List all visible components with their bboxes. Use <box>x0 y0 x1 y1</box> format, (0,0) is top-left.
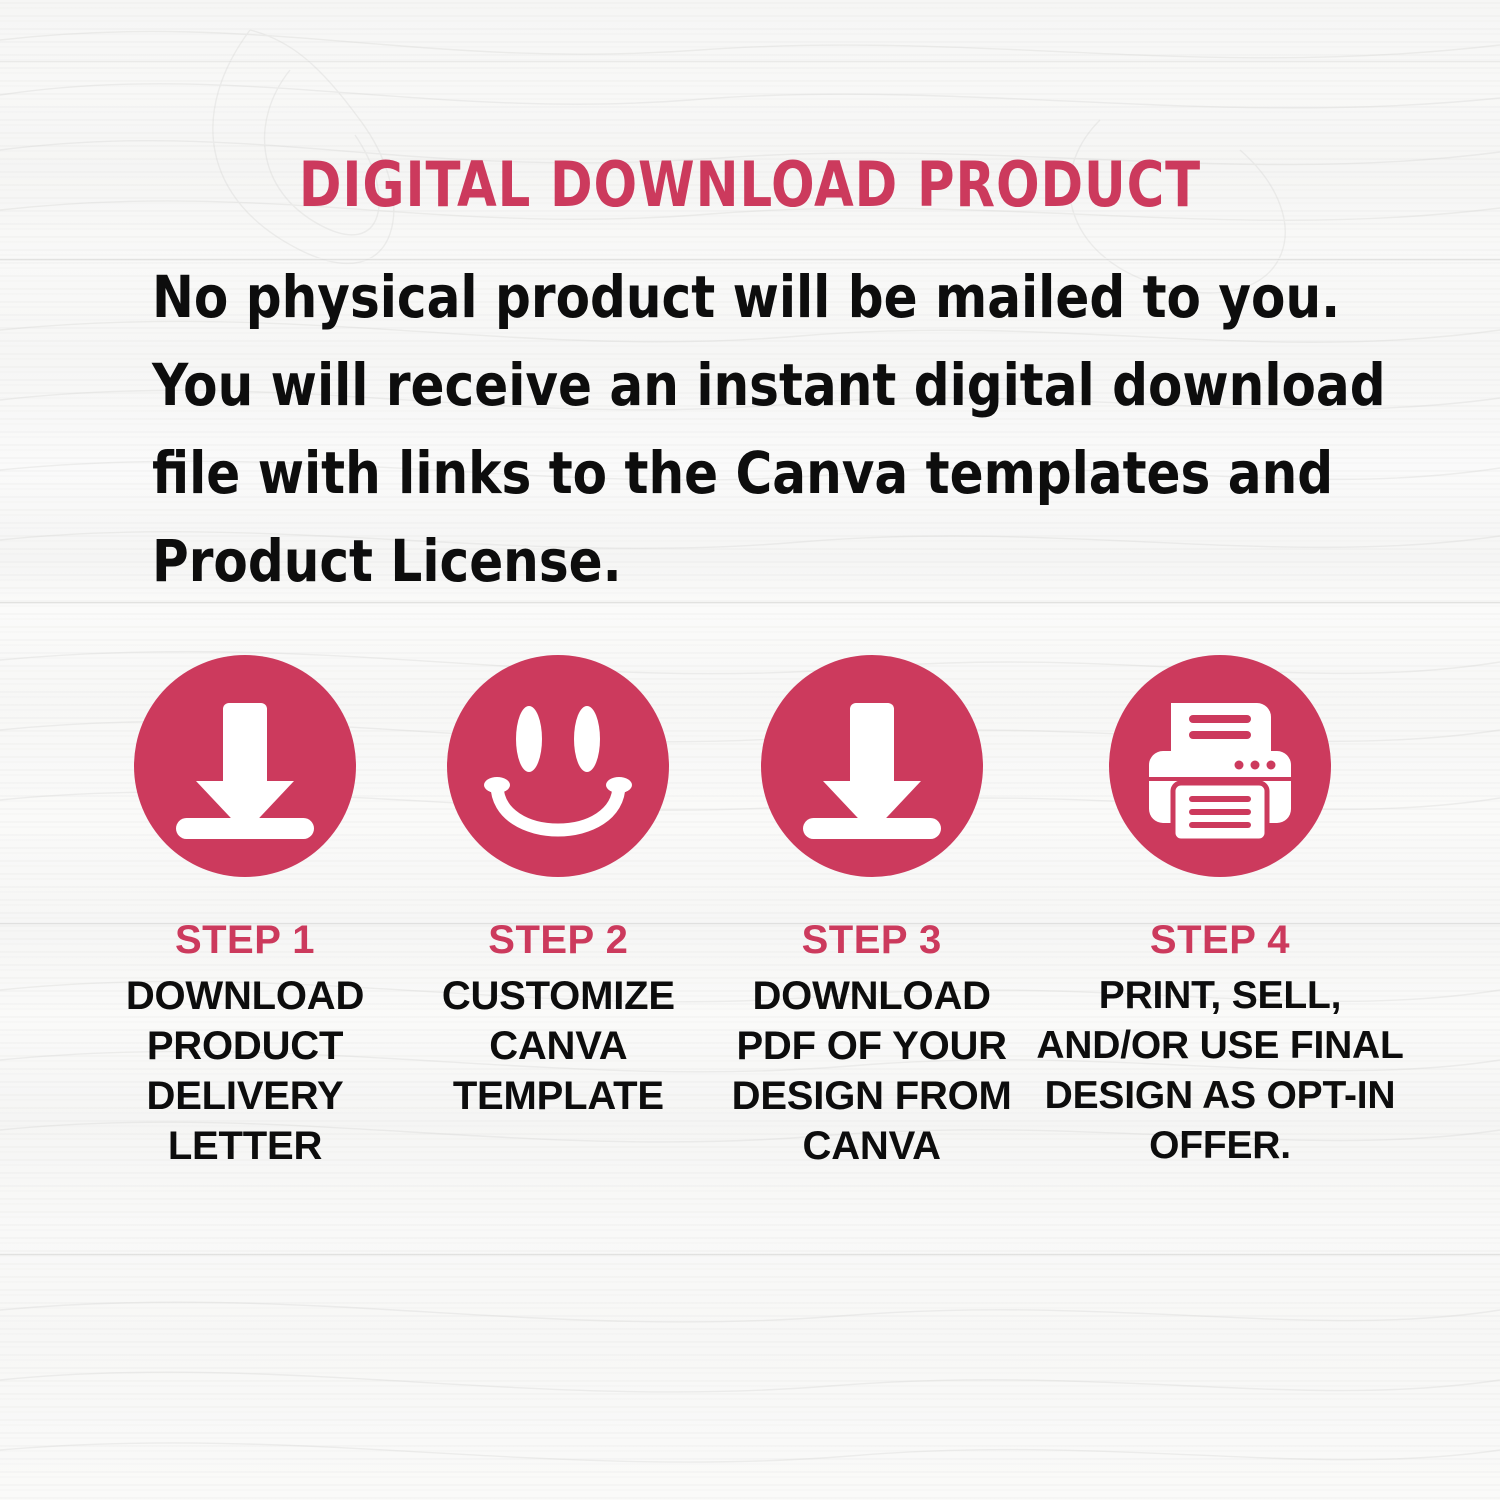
caption-line: DESIGN FROM <box>732 1071 1012 1121</box>
step-number: STEP 3 <box>802 919 942 961</box>
caption-line: DOWNLOAD <box>126 971 364 1021</box>
caption-line: OFFER. <box>1036 1121 1403 1171</box>
body-line: Product License. <box>152 517 1323 605</box>
step-2: STEP 2 CUSTOMIZE CANVA TEMPLATE <box>413 655 703 1171</box>
caption-line: DELIVERY <box>126 1071 364 1121</box>
caption-line: AND/OR USE FINAL <box>1036 1021 1403 1071</box>
caption-line: CANVA <box>732 1121 1012 1171</box>
body-paragraph: No physical product will be mailed to yo… <box>152 253 1372 605</box>
body-line: No physical product will be mailed to yo… <box>152 253 1323 341</box>
body-line: You will receive an instant digital down… <box>152 341 1323 429</box>
caption-line: CUSTOMIZE <box>442 971 675 1021</box>
step-caption: CUSTOMIZE CANVA TEMPLATE <box>442 971 675 1121</box>
download-icon <box>761 655 983 877</box>
step-caption: PRINT, SELL, AND/OR USE FINAL DESIGN AS … <box>1036 971 1403 1171</box>
smiley-face-icon <box>447 655 669 877</box>
step-number: STEP 2 <box>488 919 628 961</box>
step-number: STEP 4 <box>1150 919 1290 961</box>
plank-seam <box>0 1253 1500 1256</box>
caption-line: DOWNLOAD <box>732 971 1012 1021</box>
body-line: file with links to the Canva templates a… <box>152 429 1323 517</box>
digital-download-product-graphic: DIGITAL DOWNLOAD PRODUCT No physical pro… <box>0 0 1500 1500</box>
download-icon <box>134 655 356 877</box>
caption-line: CANVA <box>442 1021 675 1071</box>
step-1: STEP 1 DOWNLOAD PRODUCT DELIVERY LETTER <box>100 655 390 1171</box>
steps-row: STEP 1 DOWNLOAD PRODUCT DELIVERY LETTER … <box>0 655 1500 1171</box>
printer-icon <box>1109 655 1331 877</box>
page-title: DIGITAL DOWNLOAD PRODUCT <box>60 148 1440 221</box>
step-caption: DOWNLOAD PRODUCT DELIVERY LETTER <box>126 971 364 1171</box>
caption-line: PRODUCT <box>126 1021 364 1071</box>
step-number: STEP 1 <box>175 919 315 961</box>
caption-line: TEMPLATE <box>442 1071 675 1121</box>
step-caption: DOWNLOAD PDF OF YOUR DESIGN FROM CANVA <box>732 971 1012 1171</box>
caption-line: PRINT, SELL, <box>1036 971 1403 1021</box>
caption-line: LETTER <box>126 1121 364 1171</box>
caption-line: DESIGN AS OPT-IN <box>1036 1071 1403 1121</box>
caption-line: PDF OF YOUR <box>732 1021 1012 1071</box>
plank-seam <box>0 60 1500 63</box>
step-4: STEP 4 PRINT, SELL, AND/OR USE FINAL DES… <box>1040 655 1400 1171</box>
step-3: STEP 3 DOWNLOAD PDF OF YOUR DESIGN FROM … <box>727 655 1017 1171</box>
